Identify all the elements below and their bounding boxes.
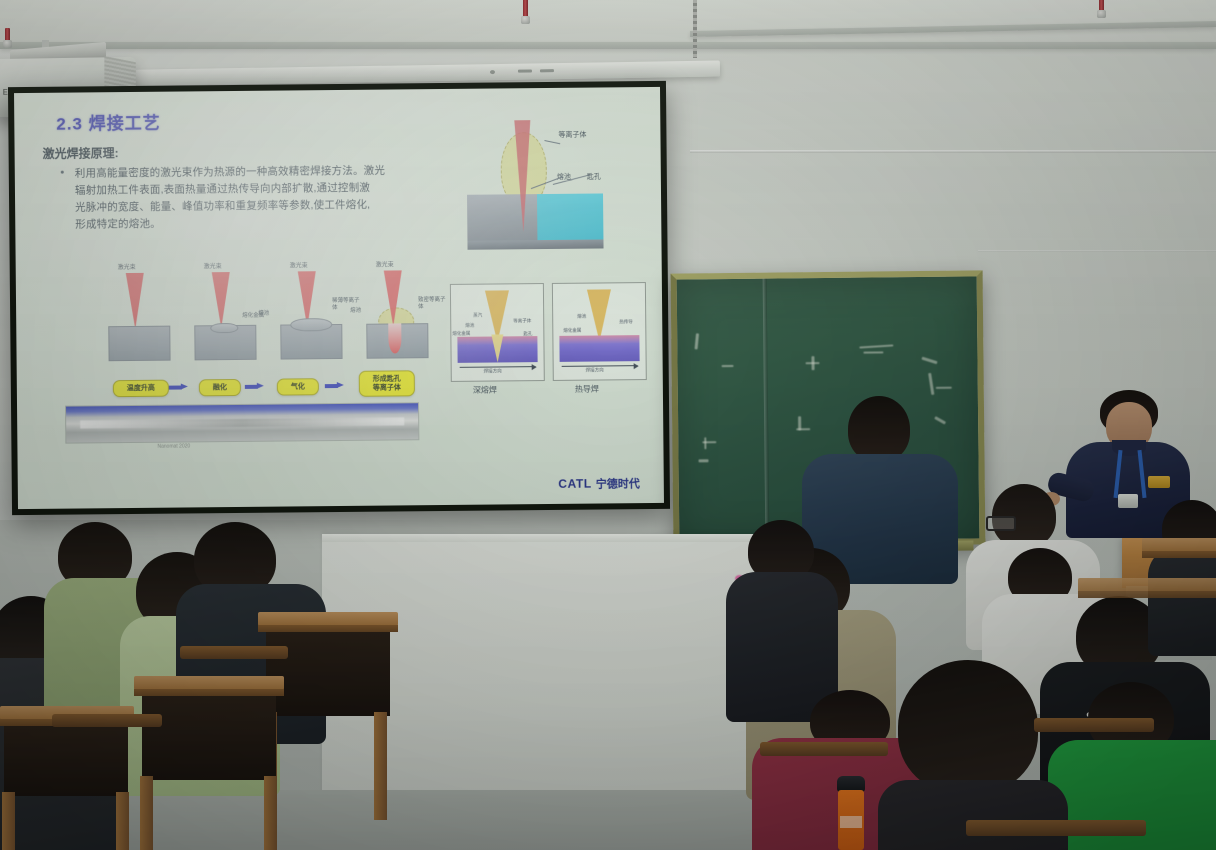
- cmp-a-label-5: 匙孔: [523, 331, 532, 337]
- catl-logo-latin: CATL: [558, 477, 592, 491]
- catl-logo: CATL 宁德时代: [558, 475, 640, 492]
- wall-seam-2: [978, 250, 1216, 252]
- cmp-b-label-2: 熔化金属: [563, 328, 581, 334]
- laser-beam-icon: [212, 272, 231, 328]
- stage-1: 激光束: [108, 262, 171, 368]
- flow-chip-2: 融化: [199, 379, 241, 396]
- chair-back: [966, 820, 1146, 836]
- slide-bullet: 利用高能量密度的激光束作为热源的一种高效精密焊接方法。激光 辐射加热工件表面,表…: [75, 162, 401, 233]
- screen-pull-chain[interactable]: [693, 0, 697, 58]
- stage-4-pool-label: 熔池: [350, 308, 361, 315]
- presentation-slide: 2.3 焊接工艺 激光焊接原理: 利用高能量密度的激光束作为热源的一种高效精密焊…: [14, 87, 664, 509]
- shirt-logo-icon: [1148, 476, 1170, 488]
- bullet-line-4: 形成特定的熔池。: [75, 213, 400, 233]
- cmp-a-label-3: 熔化金属: [452, 331, 470, 337]
- cmp-b-axis-label: 焊接方向: [586, 367, 604, 373]
- melt-dent: [210, 323, 238, 333]
- cmp-b-label-3: 热传导: [619, 319, 633, 325]
- stage-2-beam-label: 激光束: [204, 261, 222, 270]
- lecture-hall-photo: EPSON 2.3 焊接工艺 激光焊接原理: 利用高能量密度的激光束作为热源的一…: [0, 0, 1216, 850]
- stage-1-beam-label: 激光束: [118, 262, 136, 271]
- process-flow-row: 温度升高 融化 气化 形成匙孔 等离子体: [113, 373, 433, 402]
- laser-beam-icon: [587, 289, 611, 341]
- chair-back: [760, 742, 888, 756]
- arrow-right-icon: [245, 383, 265, 390]
- keyhole-icon: [491, 334, 503, 362]
- photo-caption: Nanomat 2020: [157, 443, 190, 449]
- slide-title: 2.3 焊接工艺: [56, 109, 161, 135]
- stage-3-pool-label: 熔池: [258, 311, 269, 318]
- chair-back: [52, 714, 162, 727]
- heat-conduction-panel: 熔池 熔化金属 热传导 焊接方向: [552, 282, 647, 381]
- cmp-a-label-2: 熔池: [465, 323, 474, 329]
- chair-back: [180, 646, 288, 659]
- slide-subtitle: 激光焊接原理:: [43, 144, 119, 162]
- flow-chip-1: 温度升高: [113, 380, 169, 398]
- stage-3: 激光束 稀薄等离子体 熔池: [280, 260, 343, 366]
- id-badge: [1118, 494, 1138, 508]
- eyeglasses-icon: [986, 516, 1016, 531]
- water-bottle: [836, 776, 866, 850]
- label-plasma: 等离子体: [558, 130, 586, 140]
- heat-conduction-caption: 热导焊: [575, 384, 599, 395]
- cmp-a-axis-label: 焊接方向: [484, 368, 502, 374]
- deep-penetration-caption: 深熔焊: [473, 384, 497, 395]
- fire-sprinkler-icon: [520, 0, 531, 30]
- laser-beam-icon: [126, 273, 145, 329]
- cmp-a-label-1: 蒸汽: [473, 313, 482, 319]
- fire-sprinkler-icon: [1096, 0, 1107, 24]
- flow-chip-3: 气化: [277, 378, 319, 395]
- vapor-pool: [290, 318, 332, 331]
- projection-screen: 2.3 焊接工艺 激光焊接原理: 利用高能量密度的激光束作为热源的一种高效精密焊…: [8, 81, 670, 515]
- bullet-line-3: 光脉冲的宽度、能量、峰值功率和重复频率等参数,使工件熔化,: [75, 196, 400, 216]
- stage-2: 激光束 熔化金属: [194, 261, 257, 367]
- chair-back: [1034, 718, 1154, 732]
- desk: [0, 706, 134, 850]
- stage-3-beam-label: 激光束: [290, 260, 308, 269]
- bullet-dot-icon: [61, 171, 64, 174]
- flow-chip-4: 形成匙孔 等离子体: [359, 370, 415, 397]
- student-dark-left-rear: [744, 520, 834, 690]
- arrow-right-icon: [325, 382, 345, 389]
- cmp-b-label-1: 熔池: [577, 314, 586, 320]
- wall-seam: [690, 150, 1216, 153]
- weld-seam-photo: [65, 402, 419, 443]
- arrow-right-icon: [169, 383, 189, 390]
- ceiling-trim-left: [0, 42, 1216, 49]
- label-keyhole: 匙孔: [587, 171, 601, 181]
- desk: [1078, 578, 1216, 638]
- stage-4-extra-label: 致密等离子体: [418, 297, 448, 311]
- cmp-a-label-4: 等离子体: [513, 318, 531, 324]
- catl-logo-chinese: 宁德时代: [596, 475, 640, 491]
- keyhole-cross-section: 等离子体 熔池 匙孔: [452, 109, 644, 271]
- stage-4: 激光束 致密等离子体 熔池: [366, 259, 429, 365]
- workpiece-block: [108, 326, 170, 362]
- laser-beam-icon: [384, 270, 403, 326]
- stage-4-beam-label: 激光束: [376, 259, 394, 268]
- deep-penetration-panel: 蒸汽 熔池 熔化金属 等离子体 匙孔 焊接方向: [450, 283, 545, 382]
- desk: [134, 676, 284, 850]
- workpiece-base: [467, 239, 603, 249]
- laser-beam-icon: [514, 120, 531, 232]
- molten-pool-region: [537, 193, 603, 246]
- welding-stage-diagram: 激光束 激光束 熔化金属 激光束 稀薄等离子体: [108, 259, 429, 367]
- keyhole-icon: [388, 323, 401, 353]
- heat-affected-zone: [559, 335, 639, 344]
- ceiling: [0, 0, 1216, 46]
